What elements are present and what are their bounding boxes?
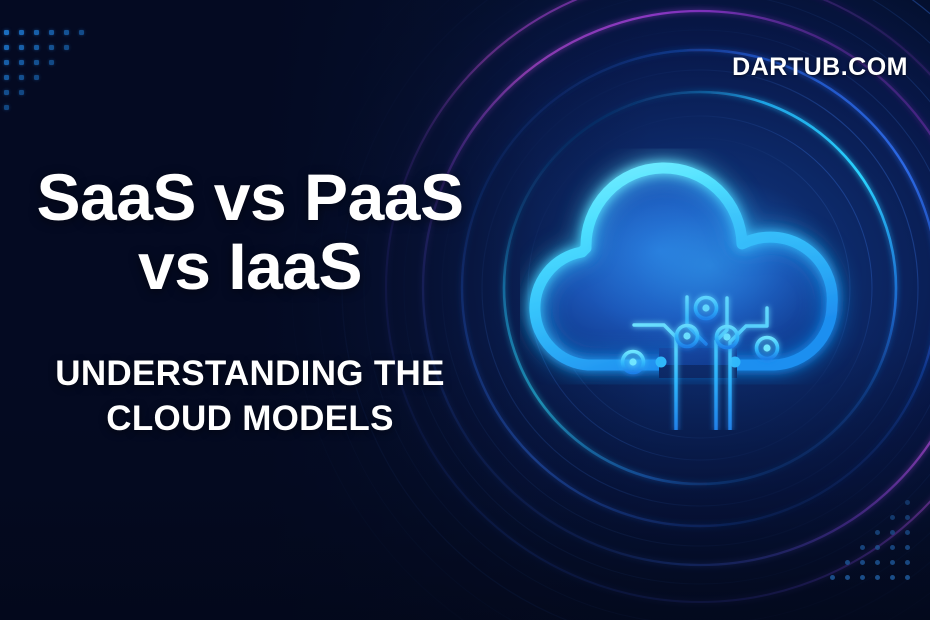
decorative-dot bbox=[905, 560, 910, 565]
decorative-dot bbox=[49, 30, 54, 35]
dot-grid-bottom-right bbox=[830, 500, 930, 620]
decorative-dot bbox=[890, 575, 895, 580]
circuit-trace-tails bbox=[676, 365, 730, 430]
decorative-dot bbox=[4, 90, 9, 95]
decorative-dot bbox=[4, 60, 9, 65]
brand-watermark: DARTUB.COM bbox=[732, 53, 908, 82]
decorative-dot bbox=[860, 545, 865, 550]
decorative-dot bbox=[34, 75, 39, 80]
decorative-dot bbox=[34, 30, 39, 35]
decorative-dot bbox=[860, 575, 865, 580]
subtitle-line-2: CLOUD MODELS bbox=[0, 397, 500, 442]
decorative-dot bbox=[34, 45, 39, 50]
title-line-1: SaaS vs PaaS bbox=[0, 163, 500, 232]
decorative-dot bbox=[4, 75, 9, 80]
page-title: SaaS vs PaaS vs IaaS bbox=[0, 163, 500, 302]
decorative-dot bbox=[64, 45, 69, 50]
decorative-dot bbox=[905, 500, 910, 505]
decorative-dot bbox=[875, 530, 880, 535]
decorative-dot bbox=[890, 545, 895, 550]
decorative-dot bbox=[19, 75, 24, 80]
decorative-dot bbox=[49, 60, 54, 65]
decorative-dot bbox=[4, 30, 9, 35]
page-subtitle: UNDERSTANDING THE CLOUD MODELS bbox=[0, 352, 500, 442]
decorative-dot bbox=[845, 575, 850, 580]
decorative-dot bbox=[4, 105, 9, 110]
decorative-dot bbox=[830, 575, 835, 580]
decorative-dot bbox=[875, 575, 880, 580]
decorative-dot bbox=[19, 45, 24, 50]
decorative-dot bbox=[905, 575, 910, 580]
decorative-dot bbox=[860, 560, 865, 565]
decorative-dot bbox=[890, 530, 895, 535]
decorative-dot bbox=[34, 60, 39, 65]
decorative-dot bbox=[19, 90, 24, 95]
decorative-dot bbox=[845, 560, 850, 565]
decorative-dot bbox=[64, 30, 69, 35]
cloud-svg bbox=[520, 140, 900, 430]
title-line-2: vs IaaS bbox=[0, 232, 500, 301]
decorative-dot bbox=[890, 515, 895, 520]
decorative-dot bbox=[19, 30, 24, 35]
decorative-dot bbox=[19, 60, 24, 65]
decorative-dot bbox=[4, 45, 9, 50]
decorative-dot bbox=[905, 530, 910, 535]
cloud-circuit-icon bbox=[520, 140, 900, 430]
decorative-dot bbox=[49, 45, 54, 50]
thumbnail-canvas: DARTUB.COM SaaS vs PaaS vs IaaS UNDERSTA… bbox=[0, 0, 930, 620]
decorative-dot bbox=[79, 30, 84, 35]
decorative-dot bbox=[905, 515, 910, 520]
subtitle-line-1: UNDERSTANDING THE bbox=[0, 352, 500, 397]
dot-grid-top-left bbox=[4, 30, 114, 140]
decorative-dot bbox=[905, 545, 910, 550]
cloud-cap-left bbox=[656, 357, 667, 368]
decorative-dot bbox=[890, 560, 895, 565]
decorative-dot bbox=[875, 545, 880, 550]
decorative-dot bbox=[875, 560, 880, 565]
